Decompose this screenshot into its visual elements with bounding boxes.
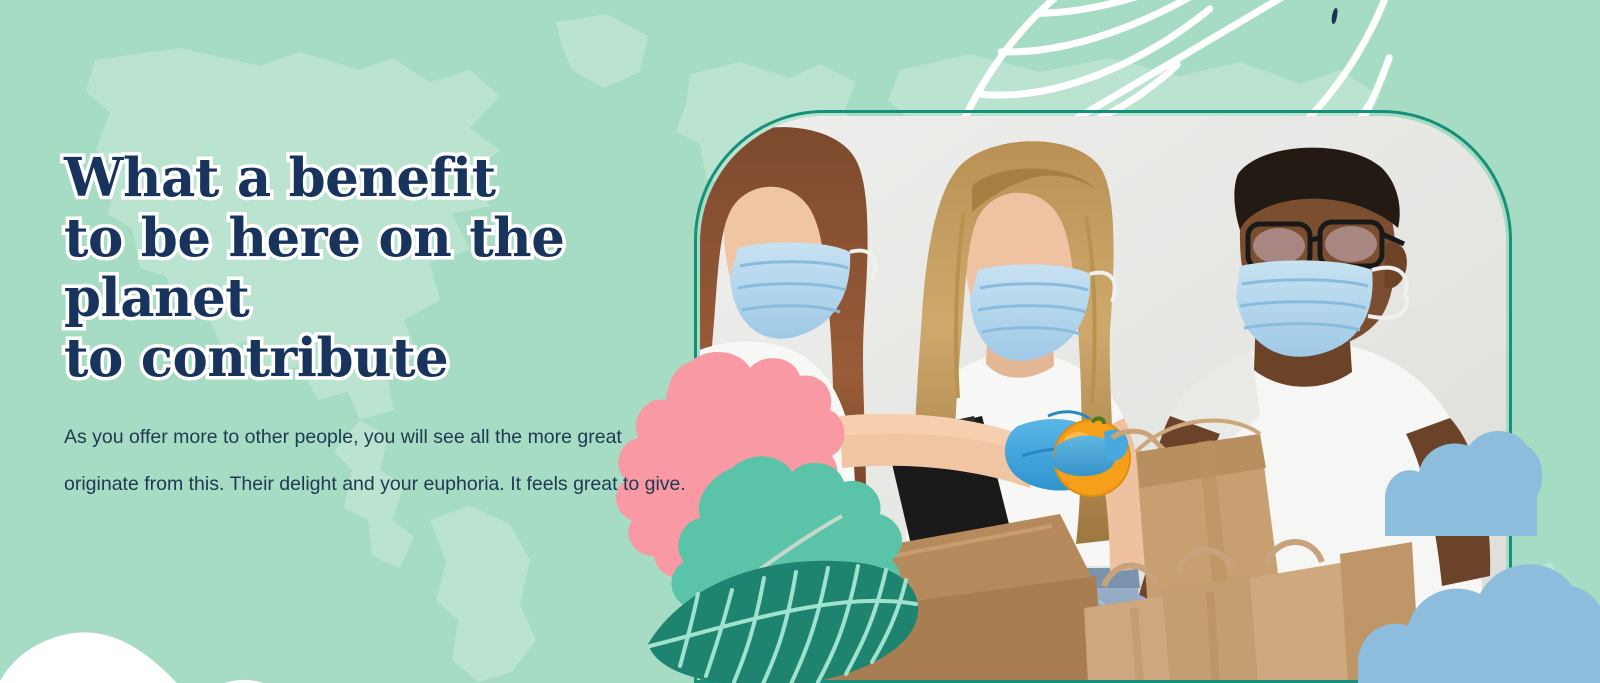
promo-banner: What a benefit to be here on the planet …	[0, 0, 1600, 683]
blue-cloud-lower	[1358, 540, 1600, 683]
copy-block: What a benefit to be here on the planet …	[64, 148, 764, 508]
body-paragraph: As you offer more to other people, you w…	[64, 414, 689, 508]
dark-teal-leaf-icon	[640, 548, 920, 683]
blue-cloud-upper	[1385, 428, 1545, 538]
headline-wrap: What a benefit to be here on the planet …	[64, 148, 764, 388]
page-title: What a benefit to be here on the planet …	[64, 148, 764, 388]
white-blob-shape	[0, 572, 340, 683]
